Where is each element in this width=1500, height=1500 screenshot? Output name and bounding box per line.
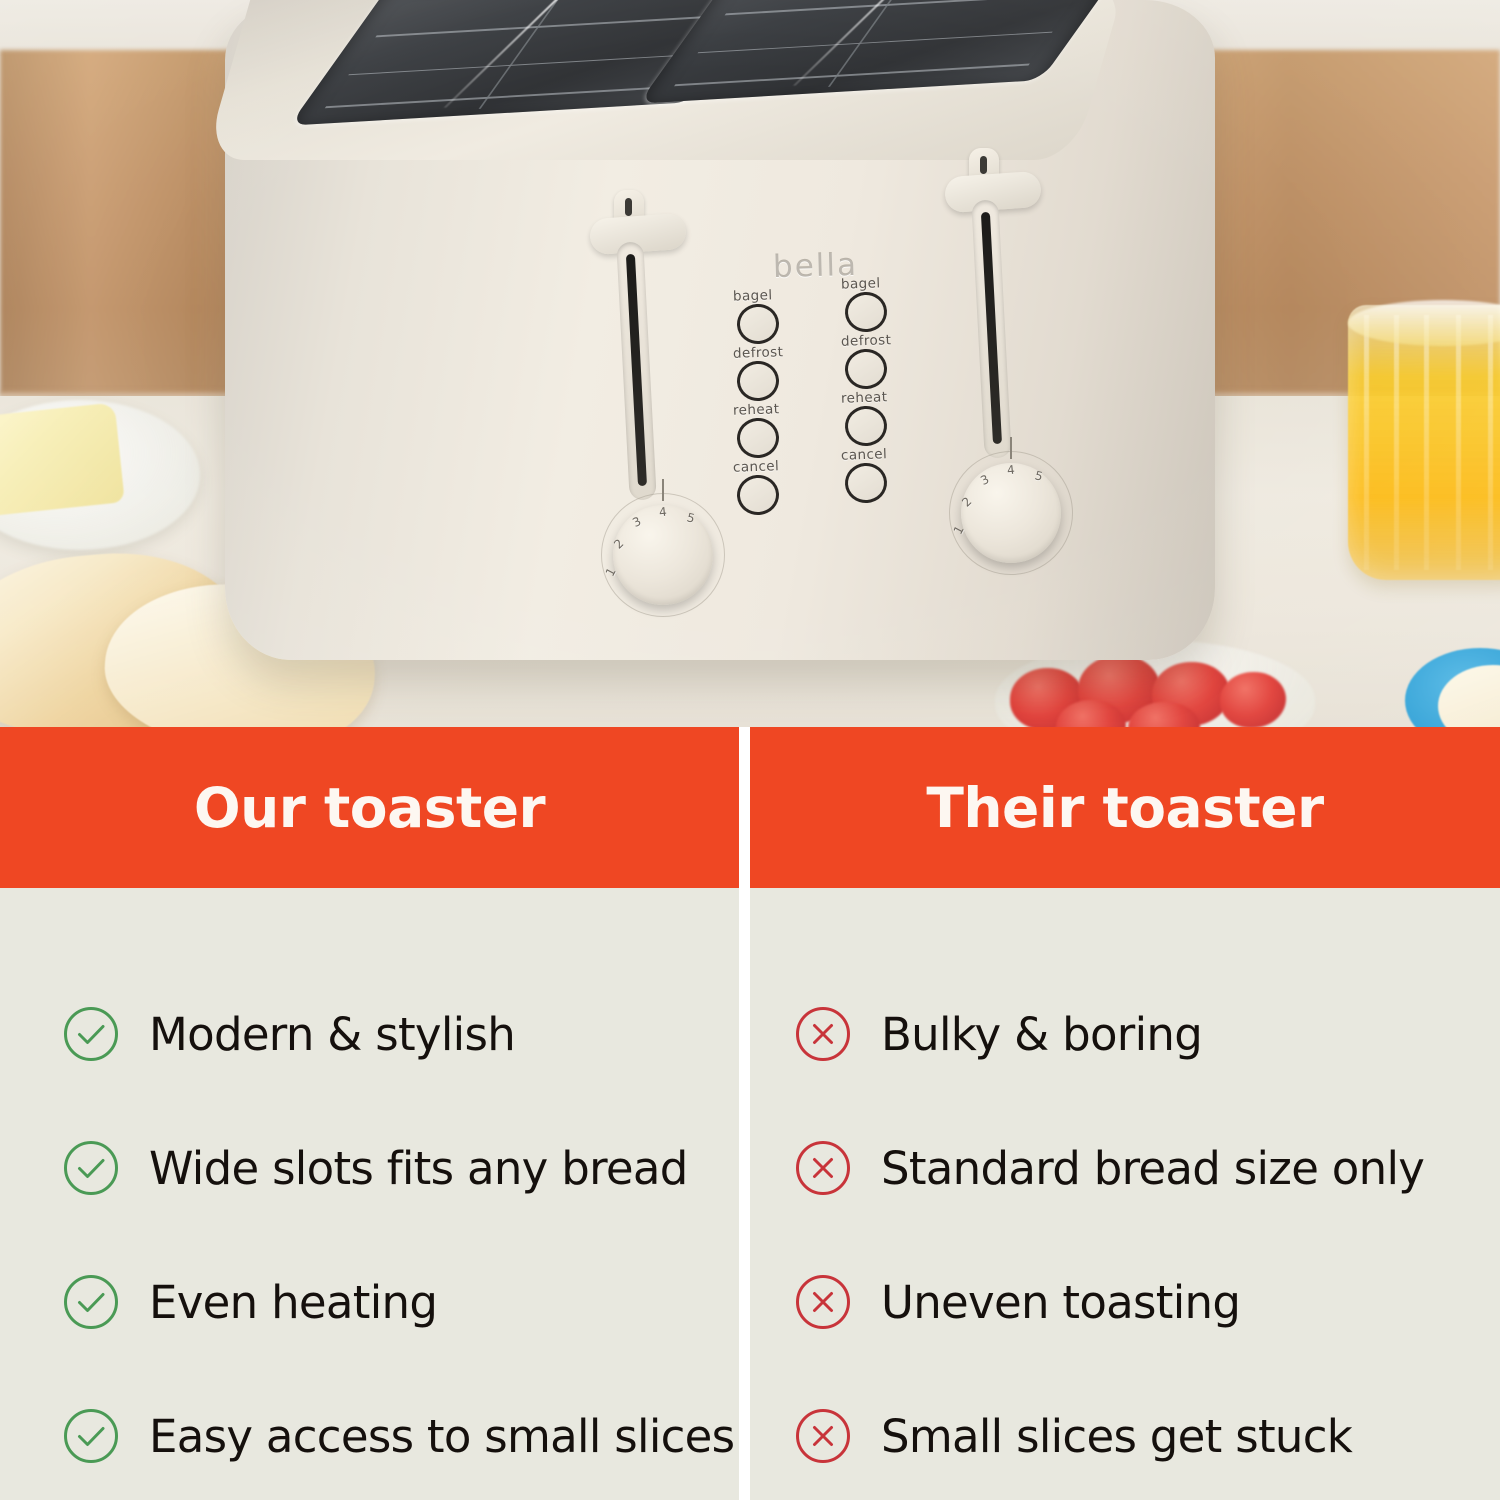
feature-text: Even heating xyxy=(149,1276,437,1329)
dial-number: 4 xyxy=(658,505,667,520)
feature-text: Wide slots fits any bread xyxy=(149,1142,688,1195)
feature-list-theirs: Bulky & boring Standard bread size only xyxy=(750,888,1500,1500)
feature-text: Standard bread size only xyxy=(881,1142,1424,1195)
list-item: Easy access to small slices xyxy=(0,1369,739,1500)
feature-text: Uneven toasting xyxy=(881,1276,1240,1329)
column-header-ours: Our toaster xyxy=(0,727,739,888)
control-button-label: defrost xyxy=(841,332,892,350)
strawberry xyxy=(1220,672,1286,727)
cross-circle-icon xyxy=(794,1005,852,1063)
column-title: Their toaster xyxy=(926,776,1323,840)
control-button-label: bagel xyxy=(733,287,773,304)
list-item: Small slices get stuck xyxy=(750,1369,1500,1500)
feature-text: Small slices get stuck xyxy=(881,1410,1352,1463)
toaster: bella bagel defrost reheat cancel xyxy=(225,0,1215,700)
feature-text: Bulky & boring xyxy=(881,1008,1202,1061)
list-item: Standard bread size only xyxy=(750,1101,1500,1235)
list-item: Even heating xyxy=(0,1235,739,1369)
orange-juice-glass xyxy=(1348,305,1500,580)
dial-face[interactable] xyxy=(961,463,1061,563)
toaster-slot xyxy=(639,0,1147,104)
list-item: Wide slots fits any bread xyxy=(0,1101,739,1235)
control-button-label: bagel xyxy=(841,275,881,292)
product-comparison-page: bella bagel defrost reheat cancel xyxy=(0,0,1500,1500)
cross-circle-icon xyxy=(794,1273,852,1331)
dial-face[interactable] xyxy=(613,505,713,605)
feature-list-ours: Modern & stylish Wide slots fits any bre… xyxy=(0,888,739,1500)
control-button-label: cancel xyxy=(841,446,888,464)
control-button-label: reheat xyxy=(841,389,888,407)
control-button-label: reheat xyxy=(733,401,780,419)
list-item: Modern & stylish xyxy=(0,967,739,1101)
comparison-section: Our toaster Modern & stylish xyxy=(0,727,1500,1500)
check-circle-icon xyxy=(62,1139,120,1197)
cross-circle-icon xyxy=(794,1139,852,1197)
product-photo: bella bagel defrost reheat cancel xyxy=(0,0,1500,727)
list-item: Uneven toasting xyxy=(750,1235,1500,1369)
column-title: Our toaster xyxy=(194,776,545,840)
column-header-theirs: Their toaster xyxy=(750,727,1500,888)
cross-circle-icon xyxy=(794,1407,852,1465)
check-circle-icon xyxy=(62,1273,120,1331)
check-circle-icon xyxy=(62,1407,120,1465)
toaster-top-plate xyxy=(204,0,1131,160)
control-button-label: defrost xyxy=(733,344,784,362)
list-item: Bulky & boring xyxy=(750,967,1500,1101)
control-button-label: cancel xyxy=(733,458,780,476)
butter-block xyxy=(0,402,125,517)
dial-pointer xyxy=(1010,437,1012,459)
check-circle-icon xyxy=(62,1005,120,1063)
feature-text: Easy access to small slices xyxy=(149,1410,734,1463)
dial-number: 4 xyxy=(1006,463,1015,478)
comparison-column-theirs: Their toaster Bulky & boring xyxy=(750,727,1500,1500)
dial-pointer xyxy=(662,479,664,501)
feature-text: Modern & stylish xyxy=(149,1008,515,1061)
comparison-column-ours: Our toaster Modern & stylish xyxy=(0,727,750,1500)
